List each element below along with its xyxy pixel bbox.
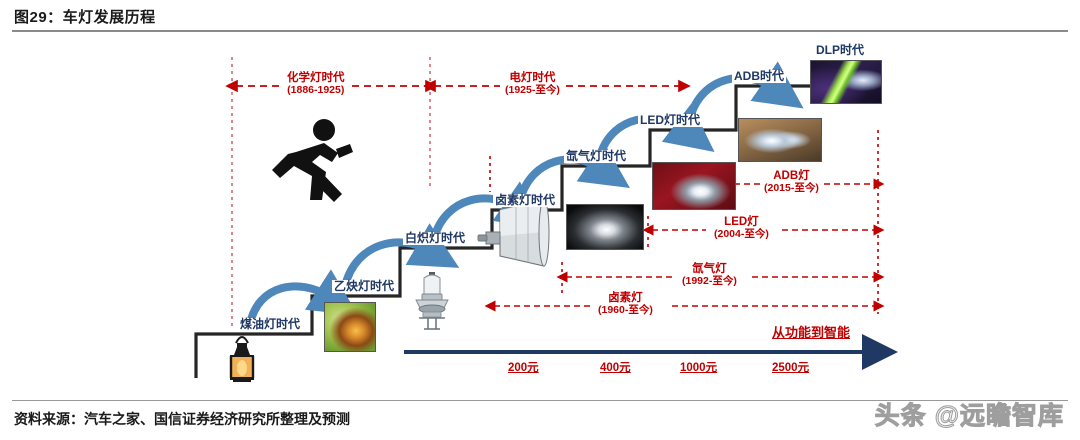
- step-label-acetylene: 乙炔灯时代: [332, 280, 396, 293]
- acetylene-lamp-image: [324, 302, 376, 352]
- lamp-span-years: (1960-至今): [598, 305, 653, 317]
- adb-headlight-image: [738, 118, 822, 162]
- era-name: 电灯时代: [509, 72, 555, 84]
- kerosene-lamp-drawing: [230, 337, 254, 382]
- xenon-headlight-image: [566, 204, 644, 250]
- source-note: 资料来源：汽车之家、国信证券经济研究所整理及预测: [14, 409, 350, 429]
- step-label-kerosene: 煤油灯时代: [238, 318, 302, 331]
- source-divider: [12, 400, 1068, 401]
- price-label-3: 1000元: [680, 362, 717, 375]
- lighting-evolution-diagram: 化学灯时代 (1886-1925) 电灯时代 (1925-至今) 煤油灯时代 乙…: [0, 34, 1080, 398]
- lamp-span-led: LED灯 (2004-至今): [714, 216, 769, 241]
- lamp-span-name: 卤素灯: [608, 292, 643, 304]
- era-name: 化学灯时代: [287, 72, 345, 84]
- price-label-2: 400元: [600, 362, 631, 375]
- page-title: 图29：车灯发展历程: [14, 6, 156, 27]
- step-label-incandescent: 白炽灯时代: [403, 232, 467, 245]
- step-label-xenon: 氙气灯时代: [564, 150, 628, 163]
- lamp-span-years: (1992-至今): [682, 276, 737, 288]
- dlp-headlight-image: [810, 60, 882, 104]
- running-person-icon: [268, 116, 358, 208]
- lamp-span-name: ADB灯: [773, 170, 809, 182]
- step-label-adb: ADB时代: [732, 70, 786, 83]
- price-label-1: 200元: [508, 362, 539, 375]
- era-label-electric: 电灯时代 (1925-至今): [505, 72, 560, 97]
- price-label-4: 2500元: [772, 362, 809, 375]
- led-headlight-image: [652, 162, 736, 210]
- lamp-span-xenon: 氙气灯 (1992-至今): [682, 263, 737, 288]
- lamp-span-halogen: 卤素灯 (1960-至今): [598, 292, 653, 317]
- trend-label: 从功能到智能: [772, 326, 850, 341]
- lamp-span-name: 氙气灯: [692, 263, 727, 275]
- lamp-span-name: LED灯: [724, 216, 759, 228]
- lamp-span-years: (2004-至今): [714, 229, 769, 241]
- lamp-span-years: (2015-至今): [764, 183, 819, 195]
- step-label-dlp: DLP时代: [814, 44, 866, 57]
- era-years: (1886-1925): [287, 85, 345, 97]
- halogen-lamp-drawing: [478, 200, 549, 266]
- title-divider: [12, 30, 1068, 32]
- step-label-halogen: 卤素灯时代: [493, 194, 557, 207]
- watermark: 头条 @远瞻智库: [875, 396, 1064, 432]
- lamp-span-adb: ADB灯 (2015-至今): [764, 170, 819, 195]
- step-label-led: LED灯时代: [638, 114, 702, 127]
- era-label-chemical: 化学灯时代 (1886-1925): [287, 72, 345, 97]
- era-years: (1925-至今): [505, 85, 560, 97]
- incandescent-bulb-drawing: [416, 272, 448, 329]
